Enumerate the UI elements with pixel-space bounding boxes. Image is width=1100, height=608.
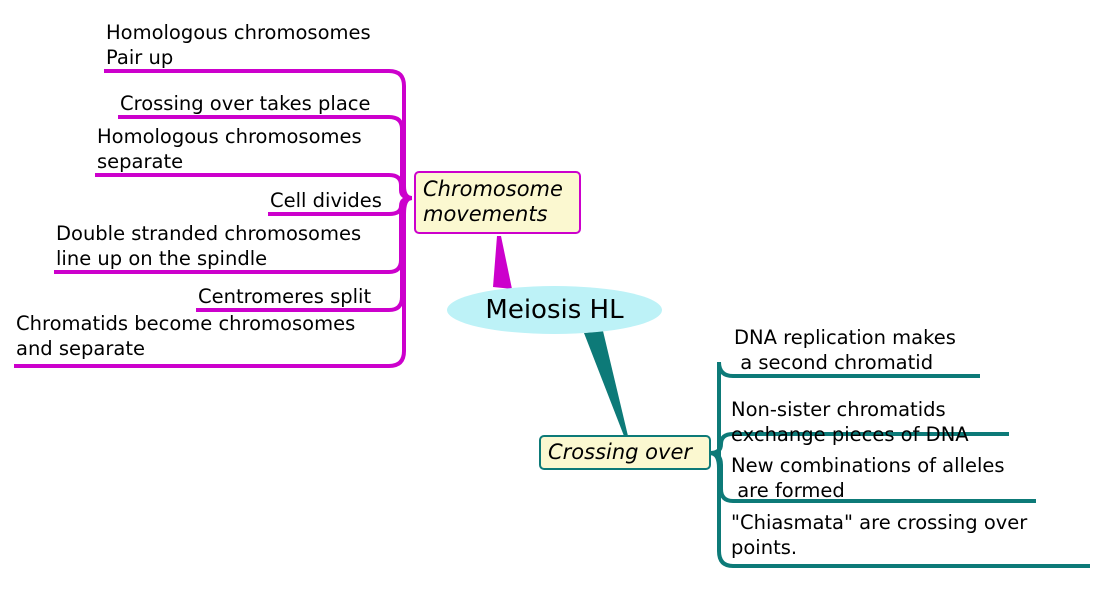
- branch-node-crossing-over-label: Crossing over: [548, 440, 692, 465]
- leaf-label-cell-divides[interactable]: Cell divides: [270, 188, 382, 213]
- leaf-label-homologous-pair-up[interactable]: Homologous chromosomes Pair up: [106, 20, 371, 70]
- leaf-label-homologous-separate[interactable]: Homologous chromosomes separate: [97, 124, 362, 174]
- branch-node-crossing-over[interactable]: Crossing over: [539, 435, 711, 470]
- root-node-label: Meiosis HL: [485, 295, 623, 325]
- mindmap-canvas: Meiosis HL Chromosome movements Crossing…: [0, 0, 1100, 608]
- leaf-label-crossing-over-takes-place[interactable]: Crossing over takes place: [120, 91, 371, 116]
- leaf-label-non-sister-chromatids[interactable]: Non-sister chromatids exchange pieces of…: [731, 397, 969, 447]
- leaf-label-dna-replication[interactable]: DNA replication makes a second chromatid: [734, 325, 956, 375]
- leaf-label-chromatids-become-chromosomes[interactable]: Chromatids become chromosomes and separa…: [16, 311, 355, 361]
- root-node-meiosis-hl[interactable]: Meiosis HL: [447, 286, 662, 334]
- connector-root-to-crossing-over: [584, 331, 628, 436]
- left-spine: [404, 198, 412, 206]
- connector-root-to-chromosome-movements: [493, 236, 512, 289]
- leaf-label-chiasmata-points[interactable]: "Chiasmata" are crossing over points.: [731, 510, 1027, 560]
- branch-node-chromosome-movements[interactable]: Chromosome movements: [414, 171, 581, 234]
- right-spine: [710, 450, 719, 453]
- leaf-label-centromeres-split[interactable]: Centromeres split: [198, 284, 371, 309]
- branch-node-chromosome-movements-label: Chromosome movements: [423, 177, 563, 227]
- leaf-label-double-stranded-spindle[interactable]: Double stranded chromosomes line up on t…: [56, 221, 361, 271]
- leaf-label-new-combinations-alleles[interactable]: New combinations of alleles are formed: [731, 453, 1005, 503]
